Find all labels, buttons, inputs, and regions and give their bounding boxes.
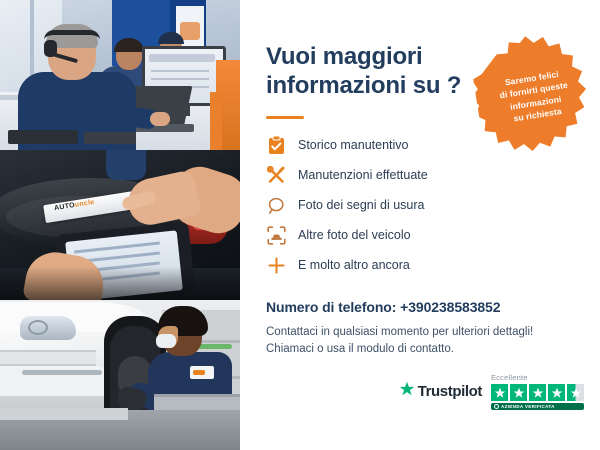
headline-line-2: informazioni su ? xyxy=(266,72,461,99)
callout-badge-content: Saremo felici di fornirti queste informa… xyxy=(468,26,600,159)
trustpilot-rating-widget[interactable]: Trustpilot Eccellente xyxy=(399,373,584,410)
feature-label: Altre foto del veicolo xyxy=(298,229,411,242)
phone-label: Numero di telefono: xyxy=(266,299,396,315)
lift-arm xyxy=(0,408,128,420)
photo-column: AUTOuncle xyxy=(0,0,240,450)
monitor-screen-toolbar xyxy=(149,54,215,62)
feature-label: Storico manutentivo xyxy=(298,139,408,152)
trustpilot-score-block: Eccellente xyxy=(491,373,584,410)
foreground-agent-hand xyxy=(150,112,170,126)
content-panel: Vuoi maggiori informazioni su ? Storico … xyxy=(240,0,600,450)
trustpilot-stars xyxy=(491,384,584,401)
star-filled xyxy=(510,384,527,401)
orange-partition-highlight xyxy=(210,92,222,150)
title-divider xyxy=(266,116,304,119)
phone-number[interactable]: +390238583852 xyxy=(400,299,500,315)
headset-band-icon xyxy=(44,30,100,40)
magnifier-icon xyxy=(266,195,287,216)
star-filled xyxy=(491,384,508,401)
phone-number-line: Numero di telefono: +390238583852 xyxy=(266,299,574,315)
feature-item-molto-altro: E molto altro ancora xyxy=(266,253,574,279)
plus-icon xyxy=(266,255,287,276)
star-filled xyxy=(548,384,565,401)
trustpilot-star-icon xyxy=(399,381,415,402)
photo-call-center-agents-with-headsets xyxy=(0,0,240,150)
monitor-screen-row xyxy=(151,78,209,80)
feature-item-foto-segni-usura: Foto dei segni di usura xyxy=(266,193,574,219)
trustpilot-wordmark: Trustpilot xyxy=(418,383,482,400)
car-grille xyxy=(0,350,96,366)
trustpilot-logo: Trustpilot xyxy=(399,381,482,402)
monitor-screen-row xyxy=(151,70,209,72)
contact-paragraph: Contattaci in qualsiasi momento per ulte… xyxy=(266,324,574,360)
feature-label: E molto altro ancora xyxy=(298,259,410,272)
keyboard-secondary xyxy=(84,132,136,144)
promo-banner: AUTOuncle xyxy=(0,0,600,450)
photo-mechanic-checking-wheel xyxy=(0,300,240,450)
star-half xyxy=(567,384,584,401)
shelf-item-green xyxy=(198,344,232,349)
photo-vehicle-inspection-with-tablet: AUTOuncle xyxy=(0,150,240,300)
trustpilot-rating-label: Eccellente xyxy=(491,373,528,382)
car-scan-icon xyxy=(266,225,287,246)
feature-label: Manutenzioni effettuate xyxy=(298,169,428,182)
paragraph-line-1: Contattaci in qualsiasi momento per ulte… xyxy=(266,326,533,338)
bumper-chrome-trim xyxy=(22,370,102,375)
feature-list: Storico manutentivo Manutenzioni effettu… xyxy=(266,133,574,279)
star-filled xyxy=(529,384,546,401)
paragraph-line-2: Chiamaci o usa il modulo di contatto. xyxy=(266,343,454,355)
callout-badge-text: Saremo felici di fornirti queste informa… xyxy=(497,67,573,125)
keyboard xyxy=(8,130,78,144)
car-headlight-ring xyxy=(28,320,48,335)
check-circle-icon xyxy=(494,404,499,409)
feature-item-altre-foto-veicolo: Altre foto del veicolo xyxy=(266,223,574,249)
photo-vignette xyxy=(0,266,240,300)
technician-sleeve xyxy=(106,150,146,180)
headline-line-1: Vuoi maggiori xyxy=(266,43,423,70)
feature-item-manutenzioni-effettuate: Manutenzioni effettuate xyxy=(266,163,574,189)
verified-label: AZIENDA VERIFICATA xyxy=(501,404,555,409)
tools-cross-icon xyxy=(266,165,287,186)
clipboard-check-icon xyxy=(266,135,287,156)
feature-label: Foto dei segni di usura xyxy=(298,199,424,212)
callout-badge: Saremo felici di fornirti queste informa… xyxy=(468,26,600,159)
mechanic-face-mask xyxy=(156,334,176,348)
verified-business-badge: AZIENDA VERIFICATA xyxy=(491,403,584,410)
uniform-logo-patch xyxy=(190,366,214,379)
